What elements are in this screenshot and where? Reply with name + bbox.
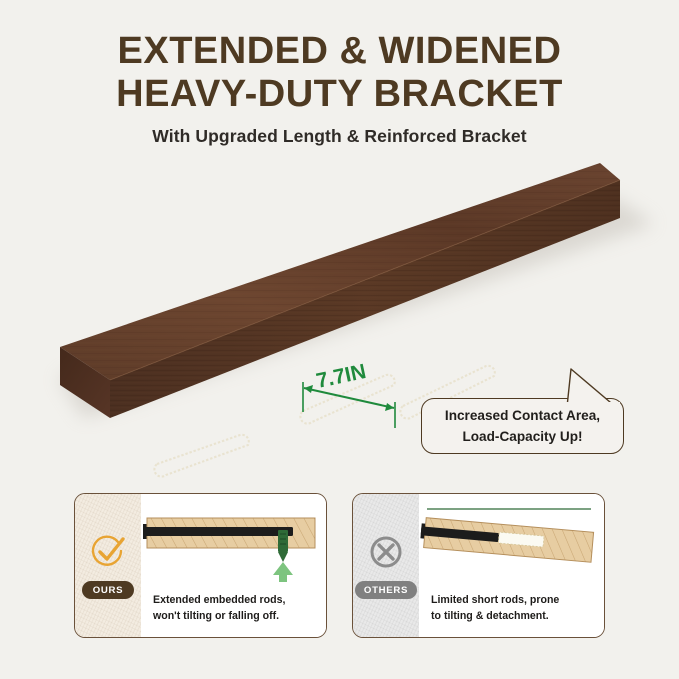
embedded-rod-long xyxy=(143,527,293,536)
diagram-others xyxy=(419,500,605,585)
shelf-edge-highlight xyxy=(110,180,620,380)
shelf-top-grain xyxy=(60,163,620,380)
panel-caption-ours: Extended embedded rods, won't tilting or… xyxy=(153,593,285,624)
page-subtitle: With Upgraded Length & Reinforced Bracke… xyxy=(0,126,679,147)
diagram-ours xyxy=(141,500,327,585)
dimension-label: 7.7IN xyxy=(314,360,368,393)
badge-ours: OURS xyxy=(82,581,135,599)
wood-block-others xyxy=(420,517,594,562)
panel-caption-ours-line1: Extended embedded rods, xyxy=(153,593,285,608)
check-circle-icon xyxy=(88,532,128,572)
badge-others: OTHERS xyxy=(355,581,417,599)
comparison-panels: OURS xyxy=(74,493,605,638)
panel-caption-others-line1: Limited short rods, prone xyxy=(431,593,559,608)
comparison-panel-others: OTHERS xyxy=(352,493,605,638)
page-title-line2: HEAVY-DUTY BRACKET xyxy=(0,73,679,116)
panel-caption-others: Limited short rods, prone to tilting & d… xyxy=(431,593,559,624)
panel-caption-others-line2: to tilting & detachment. xyxy=(431,609,559,624)
header: EXTENDED & WIDENED HEAVY-DUTY BRACKET Wi… xyxy=(0,0,679,147)
bracket-outline-left xyxy=(154,435,248,477)
x-circle-icon xyxy=(366,532,406,572)
rod-end-cap xyxy=(143,524,147,539)
panel-badge-area-others: OTHERS xyxy=(353,494,419,637)
screw-icon xyxy=(278,530,288,562)
panel-badge-area-ours: OURS xyxy=(75,494,141,637)
comparison-panel-ours: OURS xyxy=(74,493,327,638)
up-arrow-icon xyxy=(273,562,293,582)
page-title-line1: EXTENDED & WIDENED xyxy=(0,30,679,73)
callout-tail xyxy=(545,365,640,410)
panel-caption-ours-line2: won't tilting or falling off. xyxy=(153,609,285,624)
callout-line2: Load-Capacity Up! xyxy=(462,426,582,447)
panel-diagram-area-others: Limited short rods, prone to tilting & d… xyxy=(419,494,604,637)
panel-diagram-area-ours: Extended embedded rods, won't tilting or… xyxy=(141,494,326,637)
